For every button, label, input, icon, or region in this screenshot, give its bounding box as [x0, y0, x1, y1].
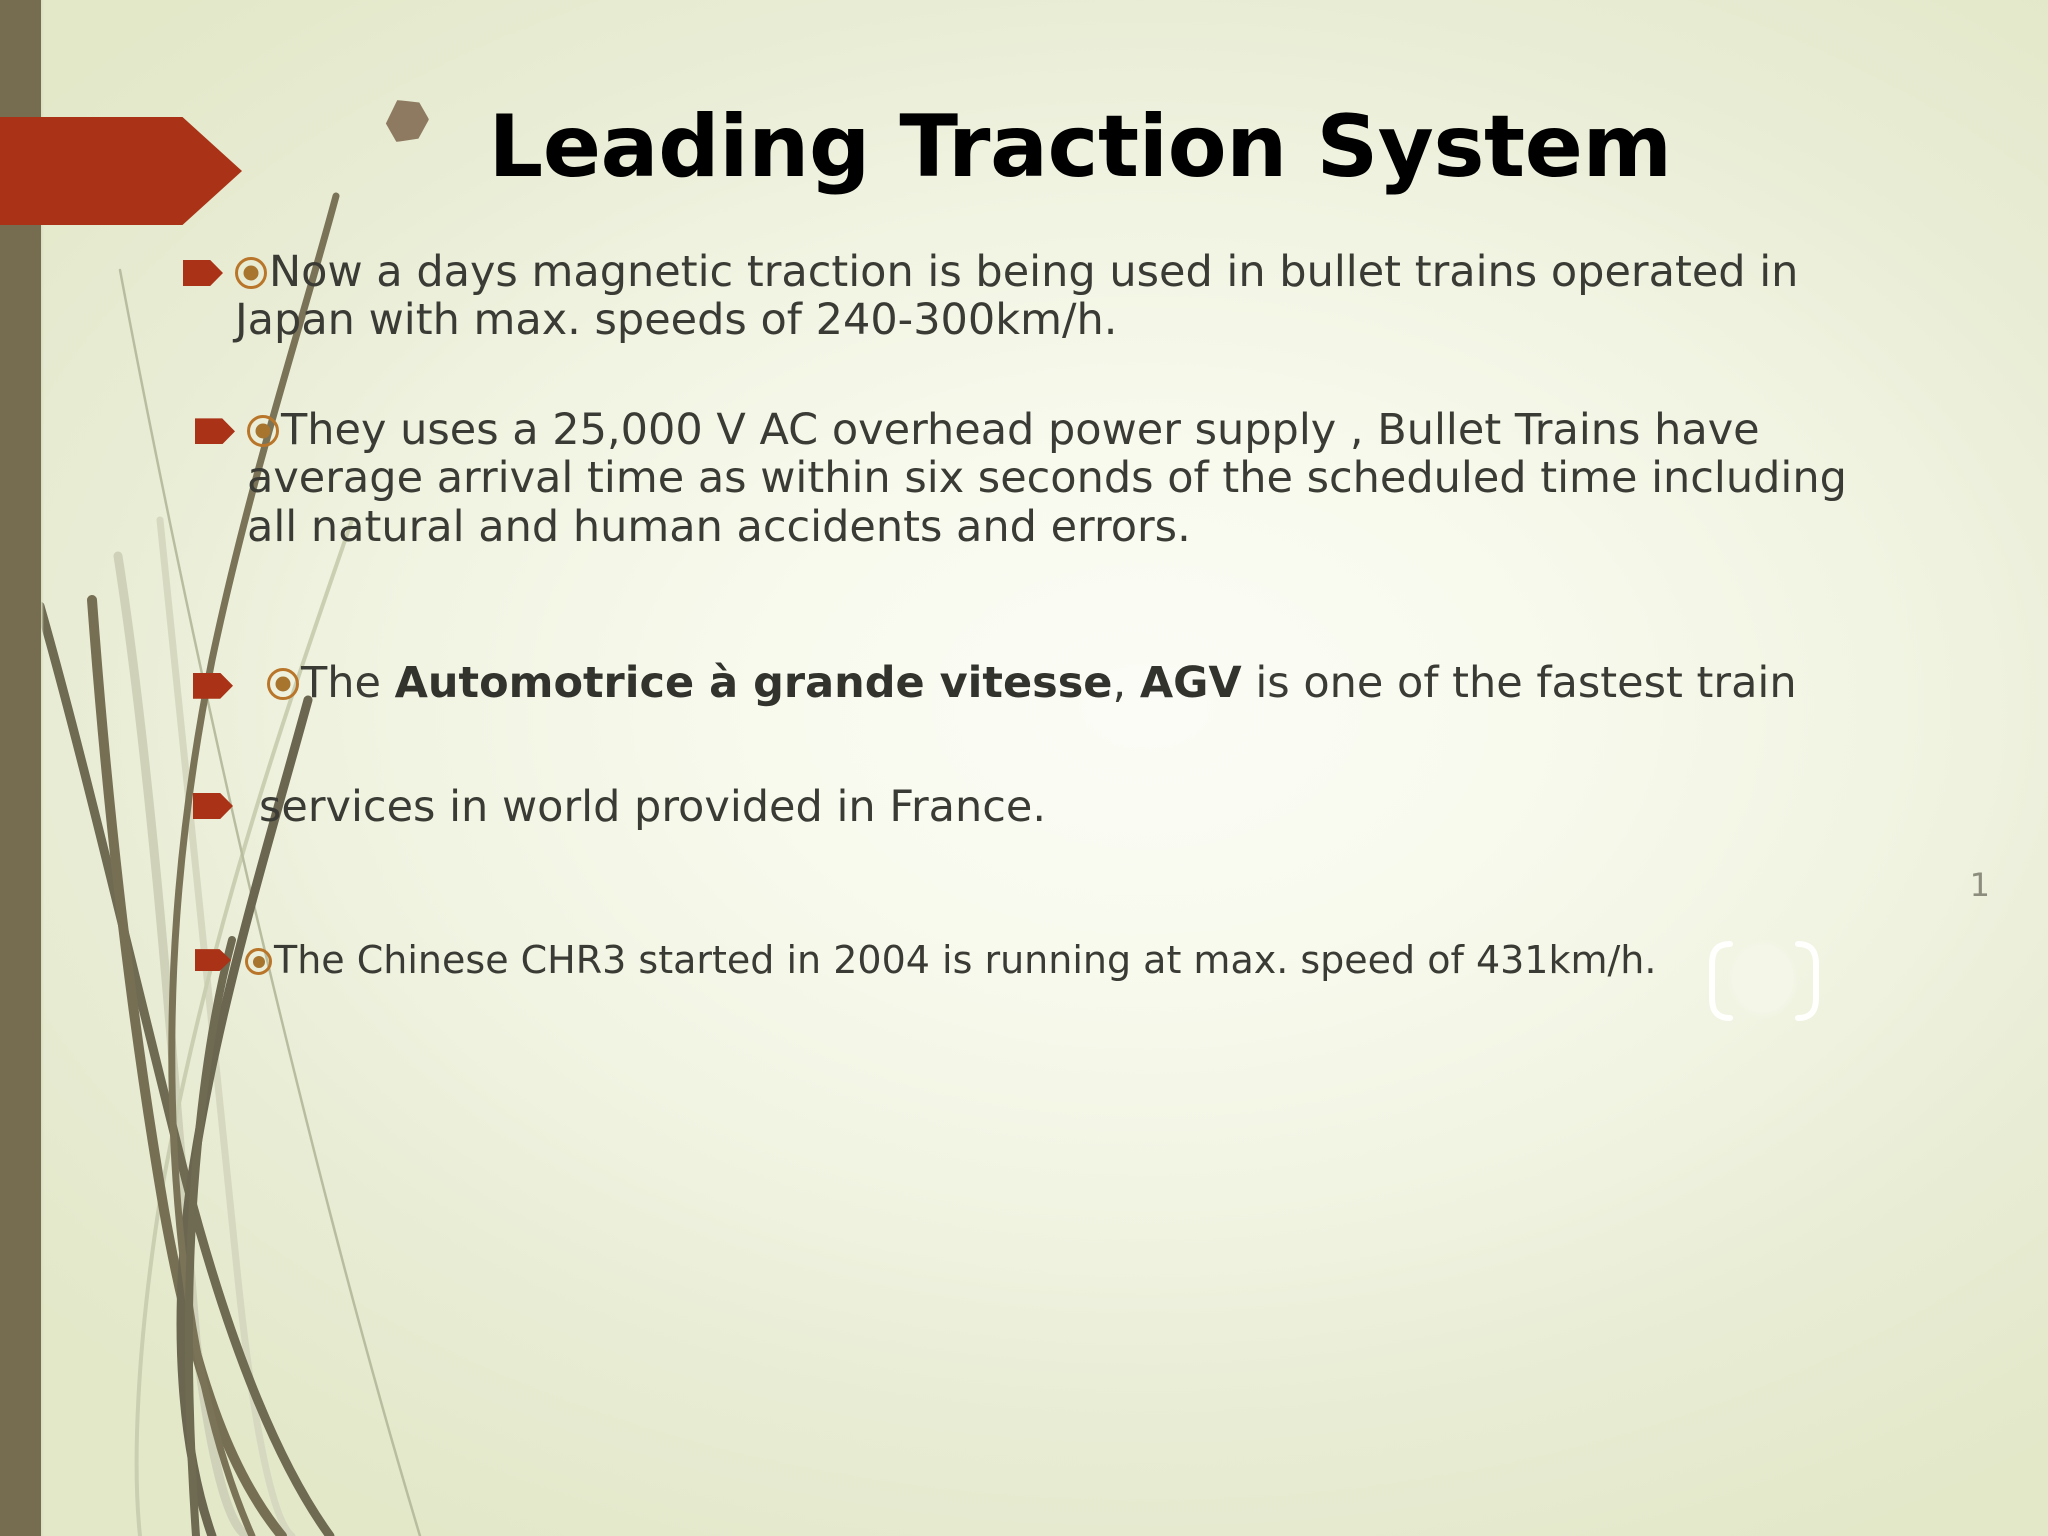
red-arrow-banner: [0, 117, 242, 225]
bullet-text: Now a days magnetic traction is being us…: [205, 248, 1905, 344]
left-accent-bar: [0, 0, 41, 1536]
bullet-segment: services in world provided in France.: [259, 782, 1046, 832]
spacer: [205, 344, 1905, 406]
bullet-segment: Now a days magnetic traction is being us…: [235, 247, 1798, 345]
bullet-item: The Automotrice à grande vitesse, AGV is…: [205, 659, 1905, 707]
bullet-item: The Chinese CHR3 started in 2004 is runn…: [205, 939, 1905, 982]
page-title: Leading Traction System: [300, 104, 1860, 190]
spacer: [205, 741, 1905, 783]
bullet-segment: The: [301, 658, 395, 708]
left-accent-bar-edge: [41, 0, 44, 1536]
bullet-text: services in world provided in France.: [205, 783, 1905, 831]
spacer: [205, 585, 1905, 659]
fisheye-bullet-icon: [267, 668, 299, 700]
fisheye-bullet-icon: [247, 415, 279, 447]
bullet-item: services in world provided in France.: [205, 783, 1905, 831]
fisheye-bullet-icon: [245, 948, 272, 975]
spacer: [205, 865, 1905, 939]
bullet-segment: ,: [1112, 658, 1139, 708]
bullet-text: They uses a 25,000 V AC overhead power s…: [205, 406, 1905, 550]
white-rounded-bracket-artifact: [1706, 938, 1822, 1024]
bullet-segment-bold: AGV: [1140, 658, 1242, 708]
slide-canvas: Leading Traction System Now a days magne…: [0, 0, 2048, 1536]
bullet-segment: is one of the fastest train: [1242, 658, 1797, 708]
page-number: 1: [1970, 866, 1990, 904]
bullet-item: They uses a 25,000 V AC overhead power s…: [205, 406, 1905, 550]
bullet-segment: They uses a 25,000 V AC overhead power s…: [247, 405, 1847, 551]
fisheye-bullet-icon: [235, 257, 267, 289]
bullet-text: The Automotrice à grande vitesse, AGV is…: [205, 659, 1905, 707]
slide-body: Now a days magnetic traction is being us…: [205, 248, 1905, 1016]
bullet-segment: The Chinese CHR3 started in 2004 is runn…: [274, 938, 1656, 982]
bullet-text: The Chinese CHR3 started in 2004 is runn…: [205, 939, 1905, 982]
bullet-item: Now a days magnetic traction is being us…: [205, 248, 1905, 344]
bullet-segment-bold: Automotrice à grande vitesse: [395, 658, 1113, 708]
